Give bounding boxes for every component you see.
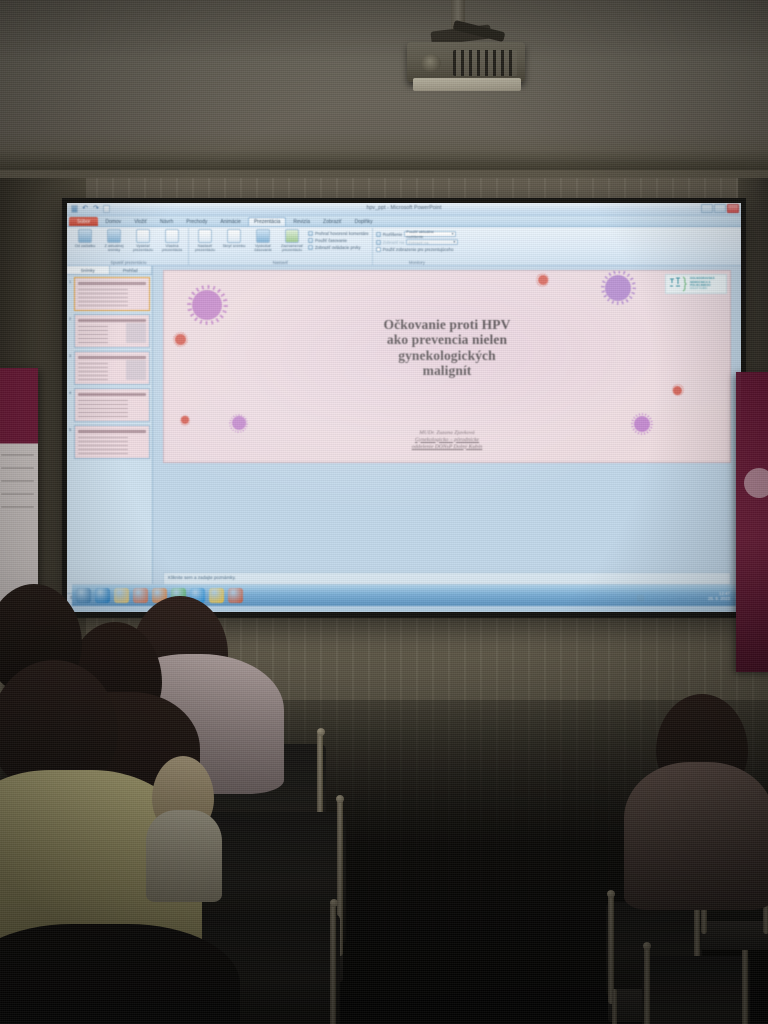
ribbon-group-label: Monitory: [376, 260, 458, 266]
projection-screen-frame: ↶ ↷ hpv_ppt - Microsoft PowerPoint Súbor…: [62, 198, 746, 618]
checkbox-row[interactable]: Zobraziť ovládacie prvky: [308, 245, 369, 250]
slideshow-current-icon[interactable]: Z aktuálnej snímky: [101, 229, 127, 252]
combo-label: Zobraziť na: [383, 240, 404, 245]
thumbnail-text-line: [78, 289, 128, 290]
slide-title-line: gynekologických: [209, 348, 684, 364]
thumbnail-text-line: [78, 338, 108, 339]
thumbnail-text-line: [78, 305, 128, 306]
thumbnail-text-line: [78, 400, 128, 401]
ribbon-button-label: Z aktuálnej snímky: [101, 244, 127, 252]
thumbnail-text-line: [78, 416, 128, 417]
thumbnail-text-line: [78, 445, 128, 446]
thumbnail-text-line: [78, 437, 128, 438]
custom-show-icon: [165, 229, 179, 243]
combo-row[interactable]: Zobraziť naZobraziť na▼: [376, 239, 458, 245]
close-button[interactable]: [727, 204, 739, 213]
chevron-down-icon[interactable]: ▼: [451, 232, 454, 236]
thumbnail-text-line: [78, 449, 128, 450]
window-title: hpv_ppt - Microsoft PowerPoint: [67, 205, 741, 211]
ribbon[interactable]: Od začiatkuZ aktuálnej snímkyVysielať pr…: [67, 227, 741, 266]
thumbnail-title-bar: [78, 430, 146, 433]
tab-animcie[interactable]: Animácie: [214, 217, 247, 227]
thumbnail-title-bar: [78, 319, 146, 322]
combo-row[interactable]: RozlíšeniePoužiť aktuálne rozlíšenie▼: [376, 231, 458, 237]
monitor-settings-group: RozlíšeniePoužiť aktuálne rozlíšenie▼Zob…: [376, 229, 458, 252]
slide-thumbnail-list[interactable]: 12345: [67, 275, 152, 593]
custom-show-icon[interactable]: Vlastná prezentácia: [159, 229, 185, 252]
checkbox-label: Použiť časovanie: [315, 238, 347, 243]
ribbon-button-label: Vyskúšať časovanie: [250, 244, 276, 252]
ribbon-button-label: Vlastná prezentácia: [159, 244, 185, 252]
slide-title-line: ako prevencia nielen: [209, 332, 684, 348]
checkbox-label: Použiť zobrazenie pre prezentujúceho: [383, 247, 454, 252]
thumbnail-title-bar: [78, 393, 146, 396]
thumbnail-pane-tabs[interactable]: SnímkyPrehľad: [67, 266, 152, 275]
thumbnail-pane-tab-prehad[interactable]: Prehľad: [110, 266, 153, 274]
thumbnail-image: [126, 360, 146, 380]
minimize-button[interactable]: [701, 204, 713, 213]
projector-body: [407, 42, 525, 82]
slide-title[interactable]: Očkovanie proti HPVako prevencia nieleng…: [209, 317, 684, 379]
ribbon-group-label: Spustiť prezentáciu: [72, 260, 185, 266]
thumbnail-text-line: [78, 375, 108, 376]
thumbnail-text-line: [78, 441, 128, 442]
thumbnail-text-line: [78, 293, 128, 294]
slide-subtitle-line: MUDr. Zuzana Zjavková: [232, 430, 662, 437]
thumbnail-text-line: [78, 404, 128, 405]
virus-large-violet: [192, 290, 222, 320]
slide-thumbnail[interactable]: 1: [74, 277, 150, 311]
slide-thumbnail[interactable]: 2: [74, 314, 150, 348]
slide-thumbnail[interactable]: 5: [74, 425, 150, 459]
ribbon-group-label: Nastaviť: [192, 260, 369, 266]
ribbon-button-label: Od začiatku: [75, 244, 96, 248]
ribbon-group-spustiprezentciu: Od začiatkuZ aktuálnej snímkyVysielať pr…: [69, 228, 189, 265]
slide-subtitle-line: oddelenie DONsP Dolný Kubín: [232, 444, 662, 451]
projector-lens-icon: [421, 54, 441, 72]
checkbox-icon[interactable]: [308, 245, 313, 250]
checkbox-row[interactable]: Prehrať hovorené komentáre: [308, 231, 369, 236]
slide-subtitle[interactable]: MUDr. Zuzana ZjavkováGynekologicko – pôr…: [232, 430, 662, 451]
slide-title-line: malignít: [209, 363, 684, 379]
banner-left-text-lines: [1, 454, 34, 519]
lecture-hall-room: ↶ ↷ hpv_ppt - Microsoft PowerPoint Súbor…: [0, 0, 768, 1024]
slide-thumbnail-number: 2: [69, 316, 71, 321]
virus-small-red: [538, 275, 548, 285]
hide-slide-icon[interactable]: Skryť snímku: [221, 229, 247, 248]
ribbon-tabs[interactable]: SúborDomovVložiťNávrhPrechodyAnimáciePre…: [67, 216, 741, 227]
chevron-down-icon[interactable]: ▼: [453, 240, 456, 244]
slide-thumbnail-pane[interactable]: SnímkyPrehľad 12345: [67, 266, 153, 593]
slide-thumbnail[interactable]: 4: [74, 388, 150, 422]
thumbnail-image: [126, 323, 146, 343]
audience-area: [0, 584, 768, 1024]
workspace: SnímkyPrehľad 12345: [67, 266, 741, 593]
slide-thumbnail-number: 1: [69, 279, 71, 284]
tab-reviza[interactable]: Revizía: [287, 217, 316, 227]
combo-value: Zobraziť na: [408, 240, 428, 245]
powerpoint-window[interactable]: ↶ ↷ hpv_ppt - Microsoft PowerPoint Súbor…: [67, 203, 741, 612]
ribbon-group-nastavi: Nastaviť prezentáciuSkryť snímkuVyskúšať…: [189, 228, 373, 265]
thumbnail-text-line: [78, 297, 128, 298]
window-controls[interactable]: [701, 204, 739, 213]
slide-thumbnail-number: 4: [69, 390, 71, 395]
banner-left-heading: [0, 382, 2, 389]
tab-domov[interactable]: Domov: [99, 217, 127, 227]
tab-sbor[interactable]: Súbor: [69, 217, 98, 227]
hide-slide-icon: [227, 229, 241, 243]
thumbnail-text-line: [78, 342, 108, 343]
tab-prezentcia[interactable]: Prezentácia: [248, 217, 286, 227]
thumbnail-text-line: [78, 408, 128, 409]
virus-small-red-2: [175, 334, 186, 345]
window-titlebar: ↶ ↷ hpv_ppt - Microsoft PowerPoint: [67, 203, 741, 216]
combo-value: Použiť aktuálne rozlíšenie: [406, 229, 451, 239]
ribbon-button-label: Vysielať prezentáciu: [130, 244, 156, 252]
projection-screen-surface: ↶ ↷ hpv_ppt - Microsoft PowerPoint Súbor…: [67, 203, 741, 612]
tab-vloi[interactable]: Vložiť: [128, 217, 153, 227]
person-body-foreground: [0, 924, 240, 1024]
hospital-logo-line3: DOLNÝ KUBÍN: [690, 287, 724, 290]
hospital-logo-line2: NEMOCNICA S POLIKLINIKOU: [690, 281, 724, 288]
tab-zobrazi[interactable]: Zobraziť: [317, 217, 348, 227]
checkbox-icon[interactable]: [376, 247, 381, 252]
virus-small-red-4: [673, 386, 682, 395]
thumbnail-text-line: [78, 371, 108, 372]
checkbox-label: Zobraziť ovládacie prvky: [315, 245, 361, 250]
thumbnail-text-line: [78, 330, 108, 331]
ribbon-checkbox-group: Prehrať hovorené komentárePoužiť časovan…: [308, 229, 369, 250]
thumbnail-text-line: [78, 412, 128, 413]
monitor-icon: [376, 240, 381, 245]
child-body: [146, 810, 222, 902]
ribbon-group-monitory: RozlíšeniePoužiť aktuálne rozlíšenie▼Zob…: [373, 228, 461, 265]
tab-prechody[interactable]: Prechody: [180, 217, 213, 227]
thumbnail-text-line: [78, 453, 128, 454]
checkbox-label: Prehrať hovorené komentáre: [315, 231, 369, 236]
combo-box[interactable]: Zobraziť na▼: [406, 239, 458, 245]
roll-up-banner-left: [0, 368, 38, 620]
maximize-button[interactable]: [714, 204, 726, 213]
thumbnail-text-line: [78, 379, 108, 380]
projector-vents: [453, 50, 517, 76]
slide-subtitle-line: Gynekologicko – pôrodnícke: [232, 437, 662, 444]
ribbon-button-label: Zaznamenať prezentáciu: [279, 244, 305, 252]
record-show-icon[interactable]: Zaznamenať prezentáciu: [279, 229, 305, 252]
slideshow-start-icon: [78, 229, 92, 243]
thumbnail-text-line: [78, 334, 108, 335]
slide-thumbnail[interactable]: 3: [74, 351, 150, 385]
hospital-logo-text: DOLNOORAVSKÁ NEMOCNICA S POLIKLINIKOU DO…: [690, 277, 724, 291]
thumbnail-text-line: [78, 367, 108, 368]
slideshow-current-icon: [107, 229, 121, 243]
broadcast-icon: [136, 229, 150, 243]
monitor-icon: [376, 232, 381, 237]
hospital-logo: DOLNOORAVSKÁ NEMOCNICA S POLIKLINIKOU DO…: [665, 274, 727, 294]
slide-thumbnail-number: 5: [69, 427, 71, 432]
checkbox-icon[interactable]: [308, 231, 313, 236]
checkbox-row[interactable]: Použiť zobrazenie pre prezentujúceho: [376, 247, 458, 252]
record-show-icon: [285, 229, 299, 243]
slide-thumbnail-number: 3: [69, 353, 71, 358]
slide-editing-stage[interactable]: DOLNOORAVSKÁ NEMOCNICA S POLIKLINIKOU DO…: [153, 266, 741, 593]
virus-small-red-3: [181, 416, 189, 424]
tab-doplky[interactable]: Doplňky: [349, 217, 379, 227]
slide-canvas[interactable]: DOLNOORAVSKÁ NEMOCNICA S POLIKLINIKOU DO…: [163, 270, 731, 463]
thumbnail-pane-tab-snmky[interactable]: Snímky: [67, 266, 110, 274]
virus-small-violet: [232, 416, 246, 430]
slideshow-start-icon[interactable]: Od začiatku: [72, 229, 98, 248]
ceiling-projector: [403, 0, 531, 96]
checkbox-row[interactable]: Použiť časovanie: [308, 238, 369, 243]
checkbox-icon[interactable]: [308, 238, 313, 243]
thumbnail-title-bar: [78, 282, 146, 285]
banner-right-circle: [744, 468, 768, 498]
thumbnail-text-line: [78, 301, 128, 302]
thumbnail-text-line: [78, 326, 108, 327]
combo-box[interactable]: Použiť aktuálne rozlíšenie▼: [404, 231, 456, 237]
slide-title-line: Očkovanie proti HPV: [209, 317, 684, 333]
tab-nvrh[interactable]: Návrh: [154, 217, 179, 227]
rehearse-timings-icon: [256, 229, 270, 243]
thumbnail-title-bar: [78, 356, 146, 359]
setup-show-icon: [198, 229, 212, 243]
projector-front-panel: [413, 78, 521, 91]
ribbon-button-label: Skryť snímku: [223, 244, 246, 248]
ribbon-button-label: Nastaviť prezentáciu: [192, 244, 218, 252]
hospital-logo-mark-icon: [668, 276, 688, 292]
rehearse-timings-icon[interactable]: Vyskúšať časovanie: [250, 229, 276, 252]
thumbnail-text-line: [78, 363, 108, 364]
person-body: [624, 762, 768, 910]
setup-show-icon[interactable]: Nastaviť prezentáciu: [192, 229, 218, 252]
combo-label: Rozlíšenie: [383, 232, 403, 237]
virus-large-violet-2: [605, 275, 631, 301]
broadcast-icon[interactable]: Vysielať prezentáciu: [130, 229, 156, 252]
